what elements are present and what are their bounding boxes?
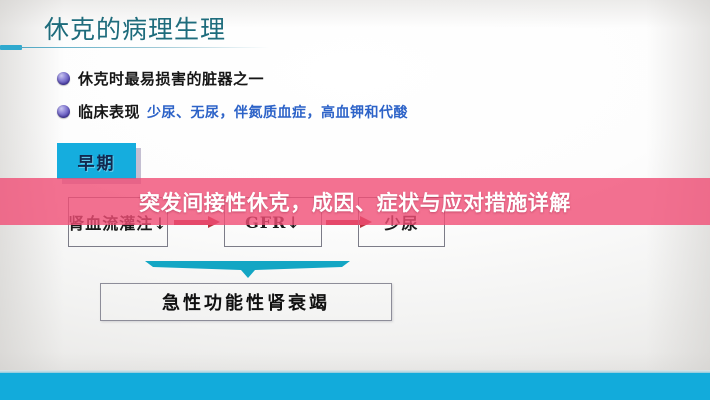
slide-title: 休克的病理生理 — [44, 14, 226, 46]
title-rule-accent — [0, 45, 22, 50]
bottom-accent-band — [0, 373, 710, 400]
slide-title-block: 休克的病理生理 — [0, 14, 640, 56]
converging-arrow-icon — [145, 261, 350, 278]
stage-tag-label: 早期 — [78, 149, 116, 174]
overlay-headline-text: 突发间接性休克，成因、症状与应对措施详解 — [139, 187, 571, 217]
bullet-item: 临床表现 少尿、无尿，伴氮质血症，高血钾和代酸 — [57, 101, 408, 122]
overlay-headline-banner: 突发间接性休克，成因、症状与应对措施详解 — [0, 178, 710, 225]
presentation-slide: 休克的病理生理 休克时最易损害的脏器之一 临床表现 少尿、无尿，伴氮质血症，高血… — [0, 0, 710, 400]
bullet-label: 临床表现 — [78, 101, 140, 122]
stage-tag: 早期 — [57, 143, 136, 179]
bullet-sphere-icon — [57, 105, 70, 118]
bullet-sphere-icon — [57, 72, 70, 85]
flow-result-label: 急性功能性肾衰竭 — [162, 289, 330, 315]
flow-result-box: 急性功能性肾衰竭 — [100, 283, 392, 321]
title-rule-line — [20, 47, 270, 48]
bullet-detail-text: 少尿、无尿，伴氮质血症，高血钾和代酸 — [147, 102, 408, 122]
bullet-label: 休克时最易损害的脏器之一 — [78, 68, 264, 89]
bullet-item: 休克时最易损害的脏器之一 — [57, 68, 264, 89]
